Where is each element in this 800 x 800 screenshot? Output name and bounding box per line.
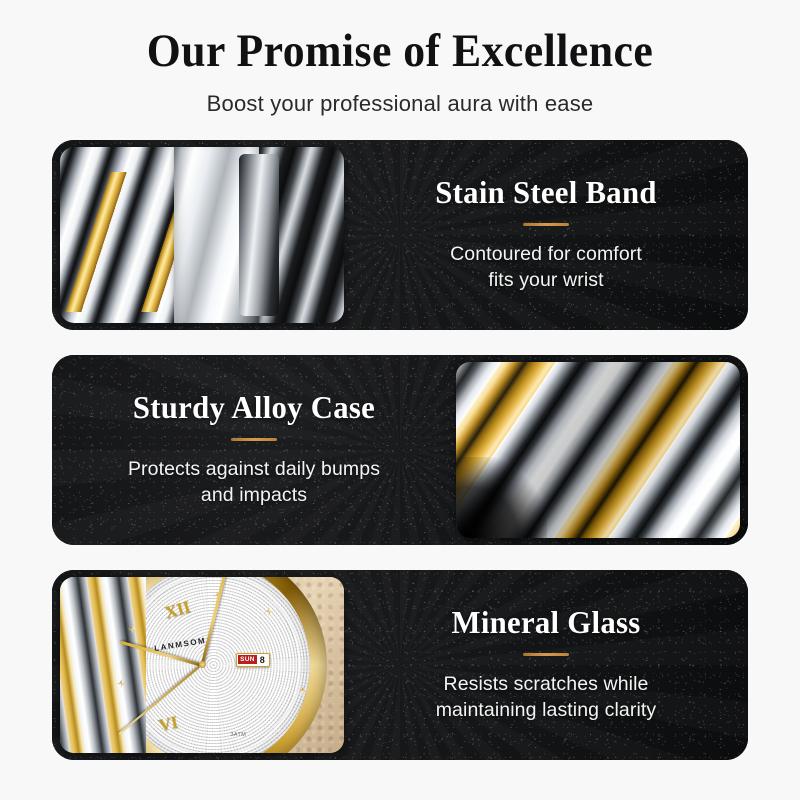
feature-title: Mineral Glass [366,606,727,640]
clasp-buckle-edge [239,154,279,316]
gold-divider [523,223,569,226]
water-resistance-label: 3ATM [230,732,246,738]
gold-divider [231,438,277,441]
alloy-case-links-photo [456,362,740,538]
feature-description-line2: and impacts [201,484,307,506]
stainless-steel-band-clasp-photo [60,147,344,323]
feature-description-line2: fits your wrist [488,269,603,291]
feature-card-list: Stain Steel Band Contoured for comfort f… [52,140,748,760]
feature-card-stain-steel-band[interactable]: Stain Steel Band Contoured for comfort f… [52,140,748,330]
feature-description: Resists scratches while maintaining last… [358,672,734,724]
feature-description: Protects against daily bumps and impacts [66,457,442,509]
feature-card-sturdy-alloy-case[interactable]: Sturdy Alloy Case Protects against daily… [52,355,748,545]
gold-links [60,172,179,313]
page-subtitle: Boost your professional aura with ease [0,91,800,117]
gold-divider [523,653,569,656]
date-value: 8 [257,655,268,665]
feature-title: Sturdy Alloy Case [74,391,435,425]
promise-of-excellence-page: Our Promise of Excellence Boost your pro… [0,0,800,800]
card-text-block: Mineral Glass Resists scratches while ma… [344,606,748,724]
day-value: SUN [238,655,257,664]
page-header: Our Promise of Excellence Boost your pro… [0,0,800,117]
card-text-block: Sturdy Alloy Case Protects against daily… [52,391,456,509]
card-text-block: Stain Steel Band Contoured for comfort f… [344,176,748,294]
feature-card-mineral-glass[interactable]: XII VI LANMSOM SUN 8 3ATM Mineral Glass … [52,570,748,760]
day-date-window: SUN 8 [236,653,270,667]
feature-title: Stain Steel Band [366,176,727,210]
page-title: Our Promise of Excellence [28,28,772,75]
dial-inner-ring [125,577,301,753]
watch-dial-mineral-glass-photo: XII VI LANMSOM SUN 8 3ATM [60,577,344,753]
watch-bracelet [60,577,145,753]
feature-description-line1: Contoured for comfort [450,243,642,265]
feature-description-line2: maintaining lasting clarity [436,699,657,721]
feature-description: Contoured for comfort fits your wrist [358,242,734,294]
feature-description-line1: Resists scratches while [444,673,649,695]
corner-shadow [456,457,547,538]
feature-description-line1: Protects against daily bumps [128,458,380,480]
